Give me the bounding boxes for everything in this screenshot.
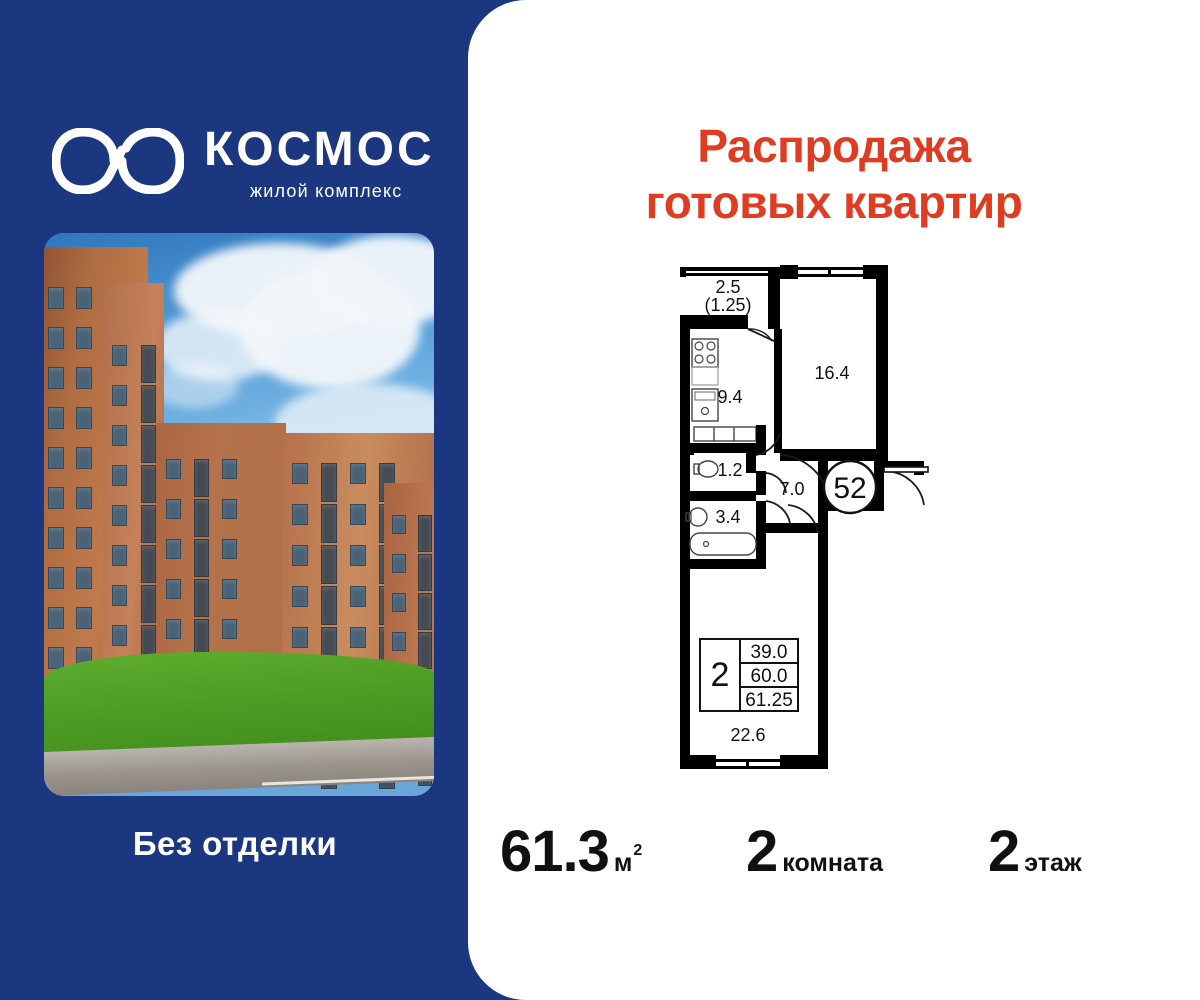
window: [392, 593, 406, 612]
stat-rooms: 2 комната: [746, 818, 883, 885]
stat-area: 61.3 м 2: [500, 818, 641, 885]
page-title-line1: Распродажа: [697, 120, 970, 172]
label-balcony: 2.5: [715, 277, 740, 297]
window: [141, 505, 156, 543]
window: [48, 447, 64, 469]
window: [48, 647, 64, 669]
window: [350, 545, 366, 566]
window: [166, 499, 181, 519]
window: [350, 586, 366, 607]
window: [418, 632, 432, 669]
stat-floor-value: 2: [988, 818, 1019, 885]
window: [76, 487, 92, 509]
brand-logo: КОСМОС жилой комплекс: [52, 124, 452, 214]
stat-floor-unit: этаж: [1024, 849, 1081, 878]
window: [48, 487, 64, 509]
window: [392, 515, 406, 534]
label-bathroom: 3.4: [715, 507, 740, 527]
window: [141, 465, 156, 503]
window: [418, 515, 432, 552]
window: [48, 287, 64, 309]
window: [222, 539, 237, 559]
window: [112, 425, 127, 446]
window: [112, 385, 127, 406]
floor-plan: 52 2 39.0 60.0 61.25 2.5 (1.25) 16.4 9.4…: [668, 255, 948, 785]
window: [194, 539, 209, 577]
left-brand-panel: КОСМОС жилой комплекс Без отд: [0, 0, 470, 1000]
building-photo: [44, 233, 434, 796]
window: [141, 425, 156, 463]
window: [166, 619, 181, 639]
window: [76, 527, 92, 549]
window: [418, 593, 432, 630]
window: [112, 345, 127, 366]
svg-text:60.0: 60.0: [751, 666, 788, 687]
label-bedroom: 16.4: [814, 363, 849, 383]
window: [222, 579, 237, 599]
label-living-room: 22.6: [730, 725, 765, 745]
window: [292, 545, 308, 566]
window: [48, 407, 64, 429]
stat-floor: 2 этаж: [988, 818, 1082, 885]
right-content-panel: Распродажа готовых квартир: [468, 0, 1200, 1000]
window: [292, 504, 308, 525]
svg-text:39.0: 39.0: [751, 642, 788, 663]
window: [350, 627, 366, 648]
window: [194, 499, 209, 537]
stat-area-unit: м: [614, 849, 633, 878]
window: [321, 463, 337, 502]
svg-text:52: 52: [833, 472, 866, 505]
window: [141, 545, 156, 583]
label-balcony-2: (1.25): [704, 295, 751, 315]
label-kitchen: 9.4: [717, 387, 742, 407]
window: [292, 463, 308, 484]
window: [112, 625, 127, 646]
label-hall: 7.0: [779, 479, 804, 499]
window: [222, 619, 237, 639]
stat-area-unit-sup: 2: [633, 842, 642, 860]
window: [321, 545, 337, 584]
brand-text-block: КОСМОС жилой комплекс: [204, 124, 435, 202]
window: [48, 567, 64, 589]
window: [76, 367, 92, 389]
apartment-stats-bar: 61.3 м 2 2 комната 2 этаж: [468, 812, 1200, 902]
brand-subtitle: жилой комплекс: [250, 180, 435, 202]
window: [48, 527, 64, 549]
window: [194, 459, 209, 497]
window: [112, 465, 127, 486]
stat-area-value: 61.3: [500, 818, 609, 885]
window: [166, 459, 181, 479]
area-summary-table: 2 39.0 60.0 61.25: [700, 639, 798, 711]
page-title: Распродажа готовых квартир: [468, 118, 1200, 230]
svg-text:61.25: 61.25: [745, 690, 793, 711]
window: [48, 327, 64, 349]
svg-text:2: 2: [711, 656, 730, 694]
window: [222, 459, 237, 479]
window: [76, 447, 92, 469]
window: [48, 607, 64, 629]
window: [350, 504, 366, 525]
window: [76, 607, 92, 629]
label-toilet: 1.2: [717, 460, 742, 480]
window: [76, 287, 92, 309]
window: [321, 504, 337, 543]
window: [48, 367, 64, 389]
window: [292, 586, 308, 607]
window: [112, 585, 127, 606]
window: [222, 499, 237, 519]
window: [76, 567, 92, 589]
window: [141, 385, 156, 423]
window: [194, 579, 209, 617]
page-title-line2: готовых квартир: [468, 174, 1200, 230]
window: [141, 585, 156, 623]
window: [292, 627, 308, 648]
window: [418, 554, 432, 591]
brand-name: КОСМОС: [204, 124, 435, 176]
window: [392, 554, 406, 573]
window: [392, 632, 406, 651]
finish-caption: Без отделки: [0, 825, 470, 863]
window: [76, 327, 92, 349]
window: [76, 407, 92, 429]
stat-rooms-value: 2: [746, 818, 777, 885]
window: [350, 463, 366, 484]
window: [112, 545, 127, 566]
window: [321, 586, 337, 625]
infinity-icon: [52, 128, 184, 194]
window: [166, 579, 181, 599]
window: [166, 539, 181, 559]
window: [141, 345, 156, 383]
stat-rooms-unit: комната: [782, 849, 883, 878]
window: [112, 505, 127, 526]
